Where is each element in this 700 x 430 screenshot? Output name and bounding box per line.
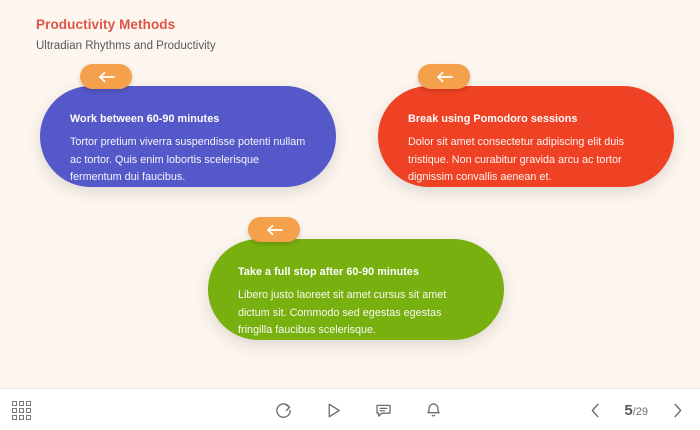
bell-icon[interactable] — [422, 399, 444, 421]
page-subtitle: Ultradian Rhythms and Productivity — [36, 38, 536, 54]
card-text: Dolor sit amet consectetur adipiscing el… — [408, 134, 644, 187]
presentation-player: Productivity Methods Ultradian Rhythms a… — [0, 0, 700, 430]
replay-icon[interactable] — [272, 399, 294, 421]
grid-cell — [26, 408, 31, 413]
card-heading: Break using Pomodoro sessions — [408, 112, 644, 126]
card-break-pomodoro[interactable]: Break using Pomodoro sessions Dolor sit … — [378, 86, 674, 187]
page-total: /29 — [633, 406, 648, 418]
card-heading: Take a full stop after 60-90 minutes — [238, 265, 474, 279]
slide-stage: Productivity Methods Ultradian Rhythms a… — [0, 0, 700, 388]
grid-cell — [26, 415, 31, 420]
card-full-stop[interactable]: Take a full stop after 60-90 minutes Lib… — [208, 239, 504, 340]
card-work-between[interactable]: Work between 60-90 minutes Tortor pretiu… — [40, 86, 336, 187]
card-body: Break using Pomodoro sessions Dolor sit … — [378, 86, 674, 209]
card-body: Take a full stop after 60-90 minutes Lib… — [208, 239, 504, 362]
page-counter: 5 /29 — [624, 402, 648, 419]
chevron-right-icon[interactable] — [668, 399, 686, 421]
grid-cell — [12, 415, 17, 420]
grid-menu-icon[interactable] — [10, 400, 32, 420]
card-text: Tortor pretium viverra suspendisse poten… — [70, 134, 306, 187]
grid-cell — [19, 415, 24, 420]
grid-cells — [12, 401, 31, 420]
grid-cell — [19, 408, 24, 413]
card-heading: Work between 60-90 minutes — [70, 112, 306, 126]
chevron-left-icon[interactable] — [586, 399, 604, 421]
arrow-left-icon[interactable] — [248, 217, 300, 242]
grid-cell — [19, 401, 24, 406]
comment-icon[interactable] — [372, 399, 394, 421]
card-body: Work between 60-90 minutes Tortor pretiu… — [40, 86, 336, 209]
card-text: Libero justo laoreet sit amet cursus sit… — [238, 287, 474, 340]
page-title: Productivity Methods — [36, 16, 536, 33]
play-icon[interactable] — [322, 399, 344, 421]
arrow-left-icon[interactable] — [418, 64, 470, 89]
arrow-left-icon[interactable] — [80, 64, 132, 89]
pager: 5 /29 — [586, 389, 686, 430]
grid-cell — [26, 401, 31, 406]
page-current: 5 — [624, 402, 632, 419]
grid-cell — [12, 408, 17, 413]
player-toolbar: 5 /29 — [0, 388, 700, 430]
center-tools — [272, 389, 444, 430]
slide-header: Productivity Methods Ultradian Rhythms a… — [36, 16, 536, 54]
grid-cell — [12, 401, 17, 406]
